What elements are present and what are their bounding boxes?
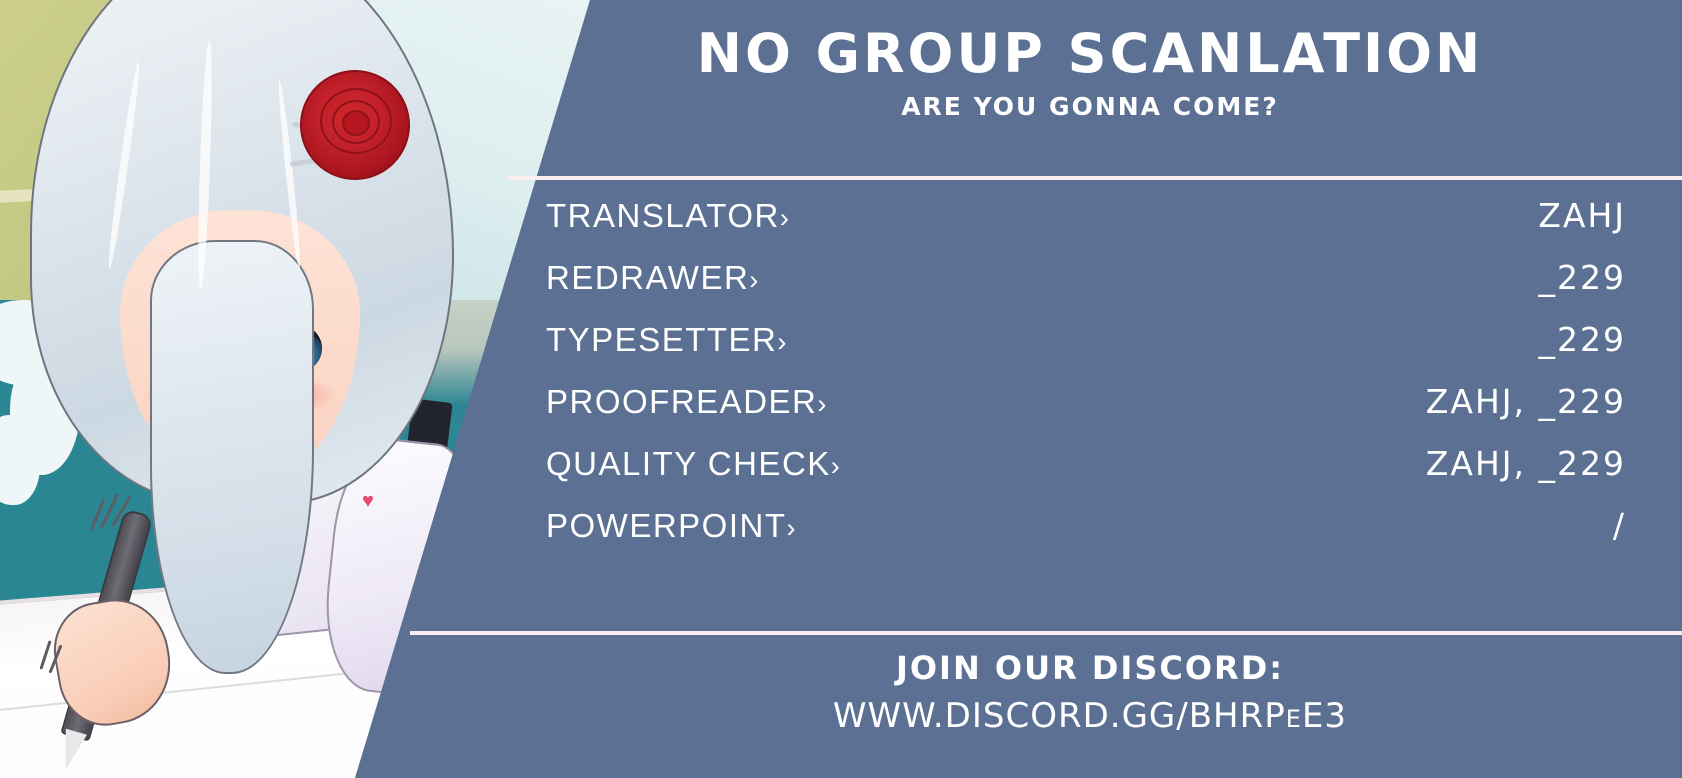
chevron-right-icon: › — [780, 203, 791, 233]
credit-role-label: TRANSLATOR› — [546, 197, 790, 235]
credit-role-label: REDRAWER› — [546, 259, 760, 297]
credit-role-text: TYPESETTER — [546, 321, 777, 358]
discord-url-suffix: E3 — [1302, 696, 1347, 736]
rose-hair-ornament — [300, 70, 410, 180]
credit-role-text: QUALITY CHECK — [546, 445, 831, 482]
credit-role-label: POWERPOINT› — [546, 507, 797, 545]
credit-role-label: PROOFREADER› — [546, 383, 828, 421]
credit-row-typesetter: TYPESETTER› _229 — [546, 320, 1626, 382]
credits-list: TRANSLATOR› ZAHJ REDRAWER› _229 TYPESETT… — [546, 196, 1626, 568]
credit-row-quality-check: QUALITY CHECK› ZAHJ, _229 — [546, 444, 1626, 506]
chevron-right-icon: › — [831, 451, 842, 481]
credit-value: _229 — [1539, 258, 1627, 297]
credits-page: ♥ NO GROUP SCANLATION ARE YO — [0, 0, 1682, 778]
chevron-right-icon: › — [817, 389, 828, 419]
hair-side-lock — [150, 240, 314, 674]
discord-url[interactable]: WWW.DISCORD.GG/BHRPEE3 — [520, 696, 1660, 737]
credit-role-label: QUALITY CHECK› — [546, 445, 841, 483]
credit-role-text: TRANSLATOR — [546, 197, 780, 234]
footer: JOIN OUR DISCORD: WWW.DISCORD.GG/BHRPEE3 — [520, 648, 1660, 737]
page-title: NO GROUP SCANLATION — [520, 24, 1660, 83]
chevron-right-icon: › — [749, 265, 760, 295]
divider-top — [508, 176, 1682, 180]
discord-url-prefix: WWW.DISCORD.GG/BHRP — [833, 696, 1286, 736]
credit-role-text: REDRAWER — [546, 259, 749, 296]
chevron-right-icon: › — [777, 327, 788, 357]
credit-row-translator: TRANSLATOR› ZAHJ — [546, 196, 1626, 258]
character-illustration: ♥ — [0, 0, 600, 778]
credit-row-redrawer: REDRAWER› _229 — [546, 258, 1626, 320]
credit-row-proofreader: PROOFREADER› ZAHJ, _229 — [546, 382, 1626, 444]
chevron-right-icon: › — [787, 513, 798, 543]
credit-role-text: PROOFREADER — [546, 383, 817, 420]
credit-value: ZAHJ, _229 — [1426, 382, 1626, 421]
credit-value: ZAHJ, _229 — [1426, 444, 1626, 483]
discord-url-small-letter: E — [1286, 705, 1302, 733]
credit-value: _229 — [1539, 320, 1627, 359]
divider-bottom — [410, 631, 1682, 635]
credit-value: ZAHJ — [1538, 196, 1626, 235]
rose-center — [342, 110, 370, 136]
heart-icon: ♥ — [362, 492, 382, 510]
credit-value: / — [1613, 506, 1626, 545]
header: NO GROUP SCANLATION ARE YOU GONNA COME? — [520, 24, 1660, 121]
credit-role-text: POWERPOINT — [546, 507, 787, 544]
discord-call-to-action: JOIN OUR DISCORD: — [520, 648, 1660, 688]
page-subtitle: ARE YOU GONNA COME? — [520, 93, 1660, 121]
credit-role-label: TYPESETTER› — [546, 321, 788, 359]
credit-row-powerpoint: POWERPOINT› / — [546, 506, 1626, 568]
